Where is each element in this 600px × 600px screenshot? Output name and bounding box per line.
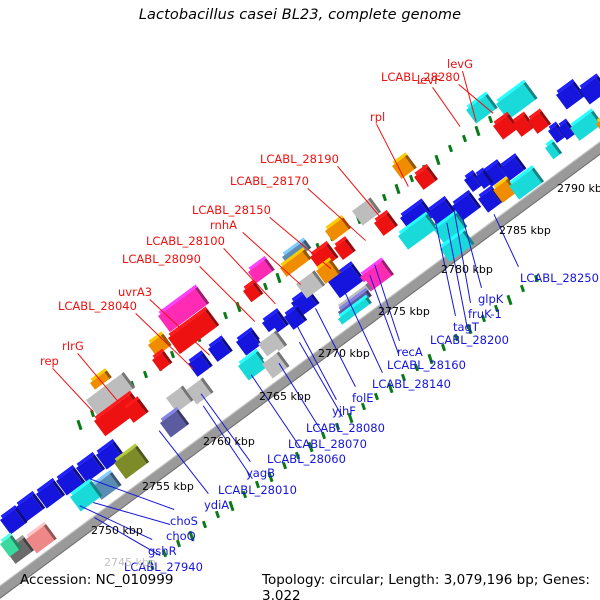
accession-text: Accession: NC_010999 <box>20 572 173 588</box>
gene-label-lcabl_28080[interactable]: LCABL_28080 <box>306 421 385 435</box>
scale-label: 2790 kbp <box>557 182 600 195</box>
gene-slate-2[interactable] <box>160 411 187 437</box>
genome-backbone[interactable] <box>0 130 600 600</box>
tick-dash <box>462 135 467 143</box>
gene-label-lcabl_28060[interactable]: LCABL_28060 <box>267 452 346 466</box>
gene-label-lcabl_28160[interactable]: LCABL_28160 <box>387 358 466 372</box>
tick-dash <box>143 371 148 379</box>
gene-label-reca[interactable]: recA <box>397 345 423 359</box>
gene-label-lcabl_28140[interactable]: LCABL_28140 <box>372 377 451 391</box>
topology-text: Topology: circular; Length: 3,079,196 bp… <box>262 572 600 600</box>
tick-dash <box>202 520 207 528</box>
tick-dash <box>520 285 525 293</box>
gene-label-lcabl_28170[interactable]: LCABL_28170 <box>230 174 309 188</box>
tick-dash <box>448 145 453 153</box>
tick-dash <box>395 184 401 194</box>
gene-label-yagb[interactable]: yagB <box>246 466 275 480</box>
gene-cyan-3[interactable] <box>570 113 600 141</box>
gene-label-rep[interactable]: rep <box>40 354 59 368</box>
gene-label-chos[interactable]: choS <box>170 514 198 528</box>
gene-label-rirg[interactable]: rIrG <box>62 339 84 353</box>
gene-blue-2[interactable] <box>579 78 600 105</box>
gene-label-lcabl_28090[interactable]: LCABL_28090 <box>122 252 201 266</box>
leader-line <box>52 368 94 413</box>
leader-line <box>432 87 460 127</box>
gene-cyan-4[interactable] <box>545 143 560 159</box>
gene-label-lcabl_28040[interactable]: LCABL_28040 <box>58 299 137 313</box>
gene-label-glpk[interactable]: glpK <box>478 292 503 306</box>
tick-dash <box>382 194 387 202</box>
gene-label-lcabl_28200[interactable]: LCABL_28200 <box>430 333 509 347</box>
gene-label-lcabl_28250[interactable]: LCABL_28250 <box>520 271 599 285</box>
gene-red-5[interactable] <box>374 214 396 236</box>
gene-blue-25[interactable] <box>0 509 25 534</box>
gene-red-10[interactable] <box>152 353 170 371</box>
scale-label: 2750 kbp <box>91 524 143 537</box>
gene-label-lcabl_28150[interactable]: LCABL_28150 <box>192 203 271 217</box>
gene-label-fole[interactable]: folE <box>352 391 374 405</box>
scale-label: 2760 kbp <box>203 435 255 448</box>
gene-label-ydia[interactable]: ydiA <box>204 498 229 512</box>
gene-label-lcabl_28010[interactable]: LCABL_28010 <box>218 483 297 497</box>
scale-label: 2745 kbp <box>104 556 156 569</box>
tick-dash <box>223 312 228 320</box>
gene-label-tagt[interactable]: tagT <box>453 320 479 334</box>
scale-label: 2755 kbp <box>142 480 194 493</box>
tick-dash <box>374 393 379 401</box>
gene-label-lcabl_28280[interactable]: LCABL_28280 <box>381 70 460 84</box>
gene-label-rnha[interactable]: rnhA <box>210 218 237 232</box>
gene-label-lcabl_28100[interactable]: LCABL_28100 <box>146 234 225 248</box>
tick-dash <box>409 174 414 182</box>
scale-label: 2785 kbp <box>499 224 551 237</box>
gene-label-choq[interactable]: choQ <box>166 529 196 543</box>
scale-label: 2770 kbp <box>318 347 370 360</box>
gene-blue-1[interactable] <box>556 83 583 109</box>
gene-label-fruk-1[interactable]: fruK-1 <box>468 307 502 321</box>
gene-label-lcabl_28190[interactable]: LCABL_28190 <box>260 152 339 166</box>
tick-dash <box>275 273 281 283</box>
scale-label: 2765 kbp <box>259 390 311 403</box>
gene-label-rpl[interactable]: rpl <box>370 110 385 124</box>
footer-bar: Accession: NC_010999 Topology: circular;… <box>0 569 600 600</box>
gene-red-3[interactable] <box>528 113 549 134</box>
tick-dash <box>76 420 82 430</box>
gene-blue-18[interactable] <box>208 339 230 361</box>
gene-label-yjhf[interactable]: yjhF <box>332 404 356 418</box>
tick-dash <box>435 155 441 165</box>
gene-label-levg[interactable]: levG <box>447 57 473 71</box>
tick-dash <box>488 115 493 123</box>
gene-label-lcabl_28070[interactable]: LCABL_28070 <box>288 437 367 451</box>
scale-label: 2780 kbp <box>441 263 493 276</box>
tick-dash <box>263 282 268 290</box>
gene-label-uvra3[interactable]: uvrA3 <box>118 285 152 299</box>
tick-dash <box>474 125 480 135</box>
page-title: Lactobacillus casei BL23, complete genom… <box>0 7 600 23</box>
genome-browser-view: Lactobacillus casei BL23, complete genom… <box>0 0 600 600</box>
gene-red-4[interactable] <box>414 168 436 190</box>
tick-dash <box>507 295 513 305</box>
scale-label: 2775 kbp <box>378 305 430 318</box>
